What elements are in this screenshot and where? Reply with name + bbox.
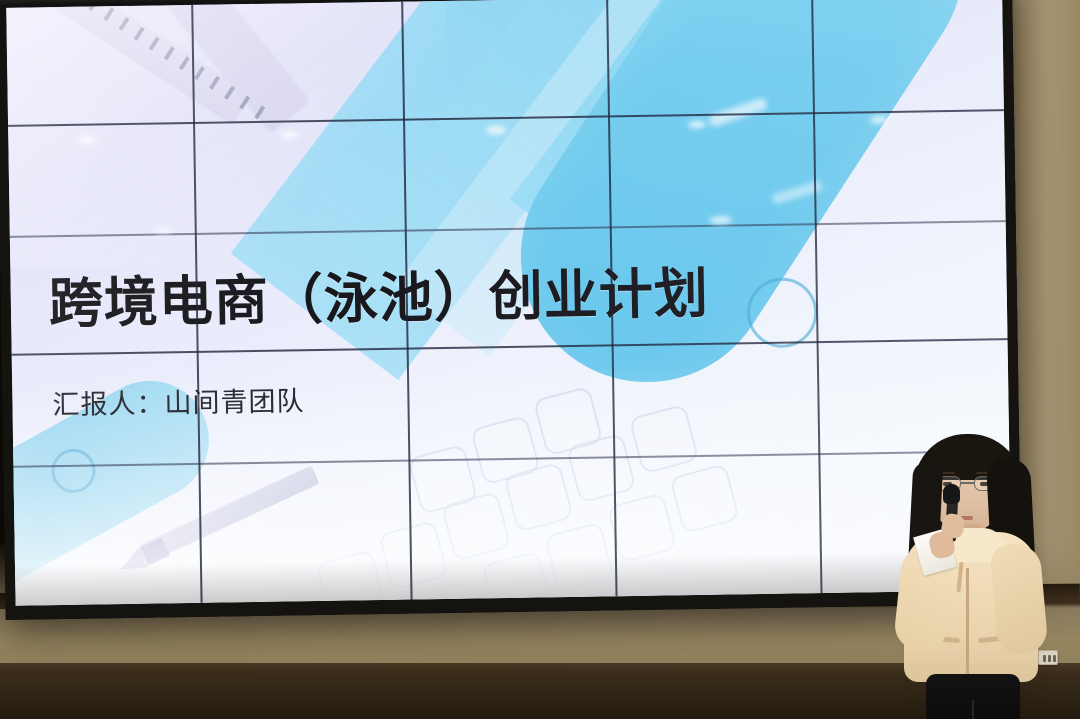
video-wall[interactable]: 跨境电商（泳池）创业计划 汇报人：山间青团队 — [0, 0, 1022, 620]
presenter-leg-seam — [972, 700, 974, 719]
presenter — [886, 428, 1066, 719]
slide-subtitle: 汇报人：山间青团队 — [52, 379, 305, 422]
presenter-hoodie-zipper — [966, 568, 969, 676]
presentation-slide[interactable]: 跨境电商（泳池）创业计划 汇报人：山间青团队 — [6, 0, 1011, 606]
video-wall-screen[interactable]: 跨境电商（泳池）创业计划 汇报人：山间青团队 — [6, 0, 1011, 606]
microphone-icon — [943, 484, 960, 504]
scene-root: 跨境电商（泳池）创业计划 汇报人：山间青团队 — [0, 0, 1080, 719]
slide-text-block: 跨境电商（泳池）创业计划 汇报人：山间青团队 — [6, 0, 1011, 606]
